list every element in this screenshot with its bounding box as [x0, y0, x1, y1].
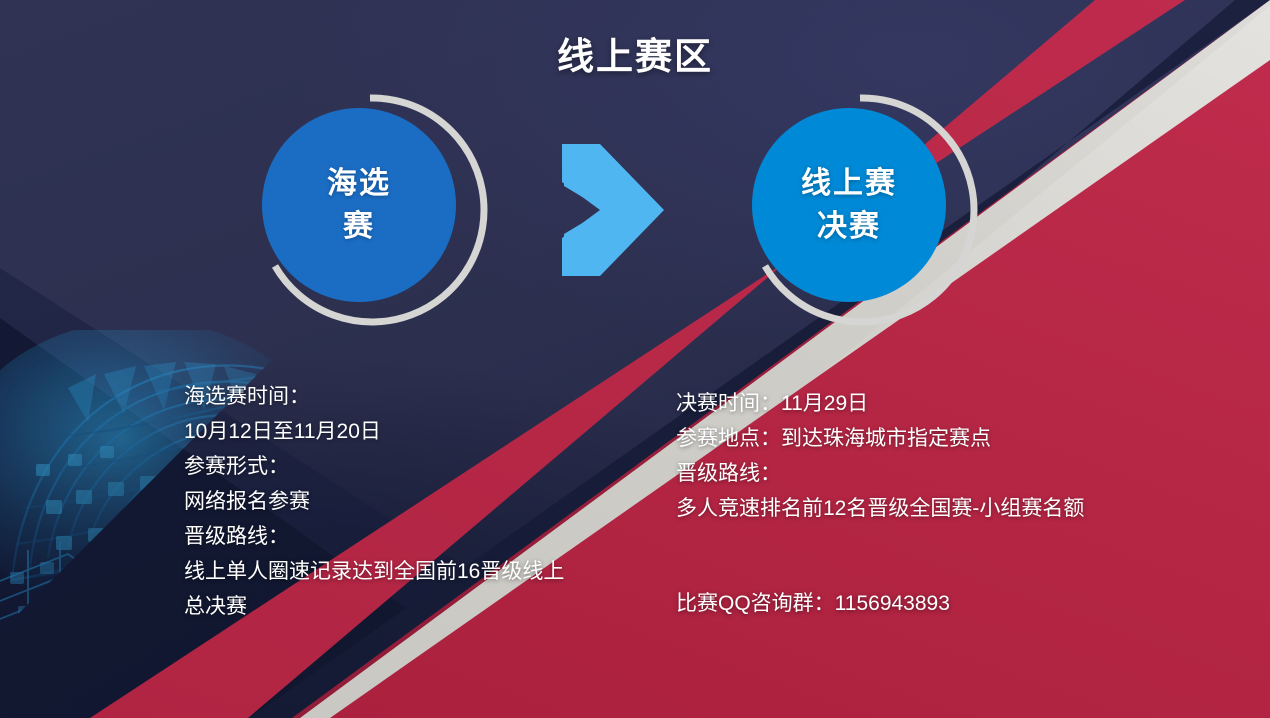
detail-line: 网络报名参赛	[184, 484, 564, 519]
detail-line: 参赛地点：到达珠海城市指定赛点	[676, 421, 1084, 456]
flow-node-online-final[interactable]: 线上赛 决赛	[738, 88, 982, 332]
flow-node-qualifier-disc: 海选 赛	[262, 108, 456, 302]
page-title: 线上赛区	[0, 26, 1270, 80]
slide-canvas: 线上赛区 海选 赛 线上赛 决赛 海选赛时	[0, 0, 1270, 718]
flow-arrow	[556, 142, 668, 278]
contact-qq-group: 比赛QQ咨询群：1156943893	[676, 588, 950, 620]
flow-node-qualifier-line-1: 海选	[327, 167, 391, 200]
detail-line: 参赛形式：	[184, 449, 564, 484]
flow-node-online-final-disc: 线上赛 决赛	[752, 108, 946, 302]
flow-node-qualifier-line-2: 赛	[343, 210, 375, 243]
detail-line: 海选赛时间：	[184, 379, 564, 414]
chevron-right-icon	[556, 142, 668, 278]
flow-node-qualifier[interactable]: 海选 赛	[248, 88, 492, 332]
detail-line: 晋级路线：	[184, 519, 564, 554]
detail-line: 总决赛	[184, 589, 564, 624]
flow-node-online-final-line-2: 决赛	[817, 210, 881, 243]
detail-line: 多人竞速排名前12名晋级全国赛-小组赛名额	[676, 491, 1084, 526]
detail-line: 10月12日至11月20日	[184, 414, 564, 449]
flow-node-online-final-line-1: 线上赛	[801, 167, 897, 200]
detail-line: 晋级路线：	[676, 456, 1084, 491]
detail-line: 线上单人圈速记录达到全国前16晋级线上	[184, 554, 564, 589]
details-left-column: 海选赛时间： 10月12日至11月20日 参赛形式： 网络报名参赛 晋级路线： …	[184, 379, 564, 624]
detail-line: 决赛时间：11月29日	[676, 386, 1084, 421]
details-right-column: 决赛时间：11月29日 参赛地点：到达珠海城市指定赛点 晋级路线： 多人竞速排名…	[676, 386, 1084, 526]
